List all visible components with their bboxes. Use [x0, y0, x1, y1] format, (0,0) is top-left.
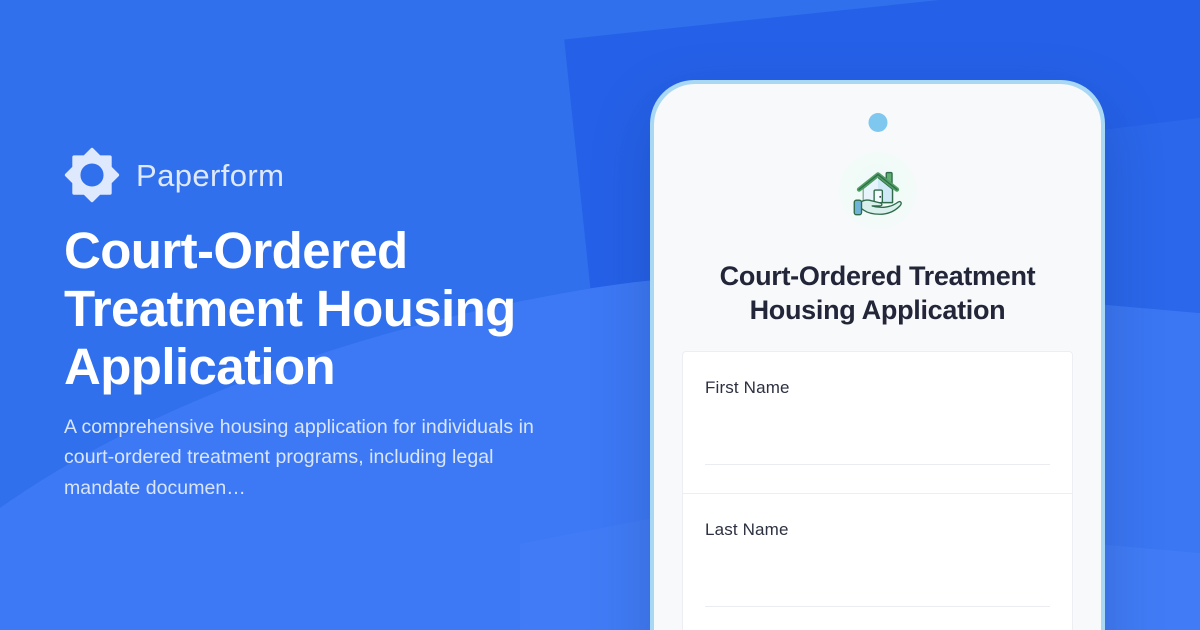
paperform-star-logo-icon	[64, 147, 120, 203]
promo-card: Paperform Court-Ordered Treatment Housin…	[0, 0, 1200, 630]
field-label: Last Name	[705, 520, 1050, 540]
form-field-last-name[interactable]: Last Name	[682, 493, 1073, 630]
form-title: Court-Ordered Treatment Housing Applicat…	[680, 259, 1075, 328]
brand-lockup: Paperform	[64, 147, 284, 203]
page-title: Court-Ordered Treatment Housing Applicat…	[64, 222, 604, 396]
hero-content: Paperform Court-Ordered Treatment Housin…	[64, 0, 624, 630]
page-description: A comprehensive housing application for …	[64, 412, 574, 503]
form-fields: First Name Last Name Date of Birth	[682, 351, 1073, 630]
camera-dot-icon	[868, 113, 887, 132]
phone-mockup: Court-Ordered Treatment Housing Applicat…	[650, 80, 1105, 630]
phone-screen: Court-Ordered Treatment Housing Applicat…	[654, 84, 1101, 630]
form-field-first-name[interactable]: First Name	[682, 351, 1073, 493]
house-in-hand-icon	[839, 152, 917, 230]
field-input-underline[interactable]	[705, 464, 1050, 465]
field-label: First Name	[705, 378, 1050, 398]
brand-name: Paperform	[136, 160, 284, 191]
field-input-underline[interactable]	[705, 606, 1050, 607]
